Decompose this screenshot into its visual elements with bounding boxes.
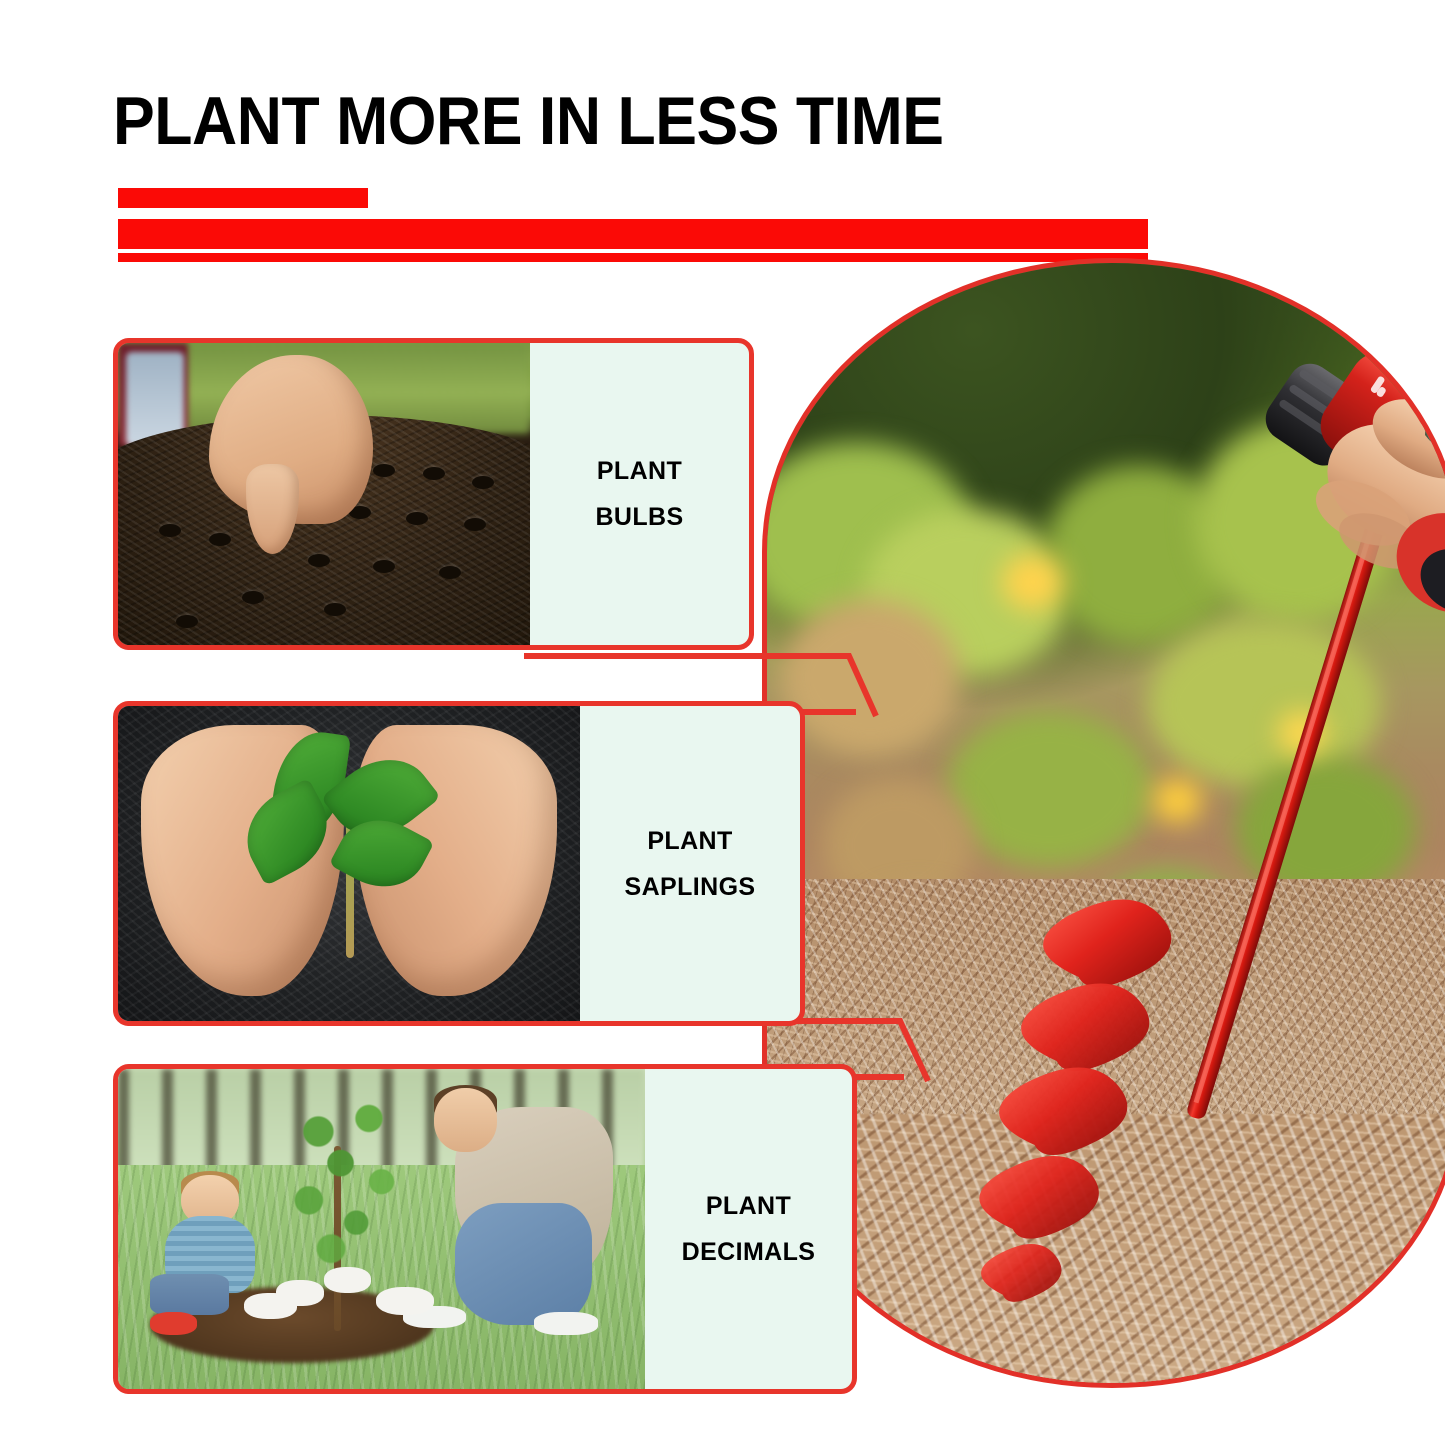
step-card-photo-decimals xyxy=(118,1069,645,1389)
step-label-line-1: PLANT xyxy=(647,818,732,864)
step-card-label-saplings: PLANT SAPLINGS xyxy=(580,706,800,1021)
step-card-plant-bulbs[interactable]: PLANT BULBS xyxy=(113,338,754,650)
accent-rule-thin xyxy=(118,253,1148,262)
accent-rule-long xyxy=(118,219,1148,249)
step-card-photo-bulbs xyxy=(118,343,530,645)
step-card-label-bulbs: PLANT BULBS xyxy=(530,343,749,645)
auger-flutes xyxy=(976,894,1176,1305)
auger-drill-illustration: KOK xyxy=(767,263,1445,1388)
step-label-line-1: PLANT xyxy=(706,1183,791,1229)
step-label-line-2: DECIMALS xyxy=(682,1229,816,1275)
step-label-line-2: SAPLINGS xyxy=(625,864,756,910)
step-card-photo-saplings xyxy=(118,706,580,1021)
step-label-line-1: PLANT xyxy=(597,448,682,494)
step-label-line-2: BULBS xyxy=(595,494,683,540)
step-card-plant-saplings[interactable]: PLANT SAPLINGS xyxy=(113,701,805,1026)
hero-product-photo: KOK xyxy=(762,258,1445,1388)
accent-rule-short xyxy=(118,188,368,208)
step-card-label-decimals: PLANT DECIMALS xyxy=(645,1069,852,1389)
page-title: PLANT MORE IN LESS TIME xyxy=(113,84,1125,158)
step-card-plant-decimals[interactable]: PLANT DECIMALS xyxy=(113,1064,857,1394)
